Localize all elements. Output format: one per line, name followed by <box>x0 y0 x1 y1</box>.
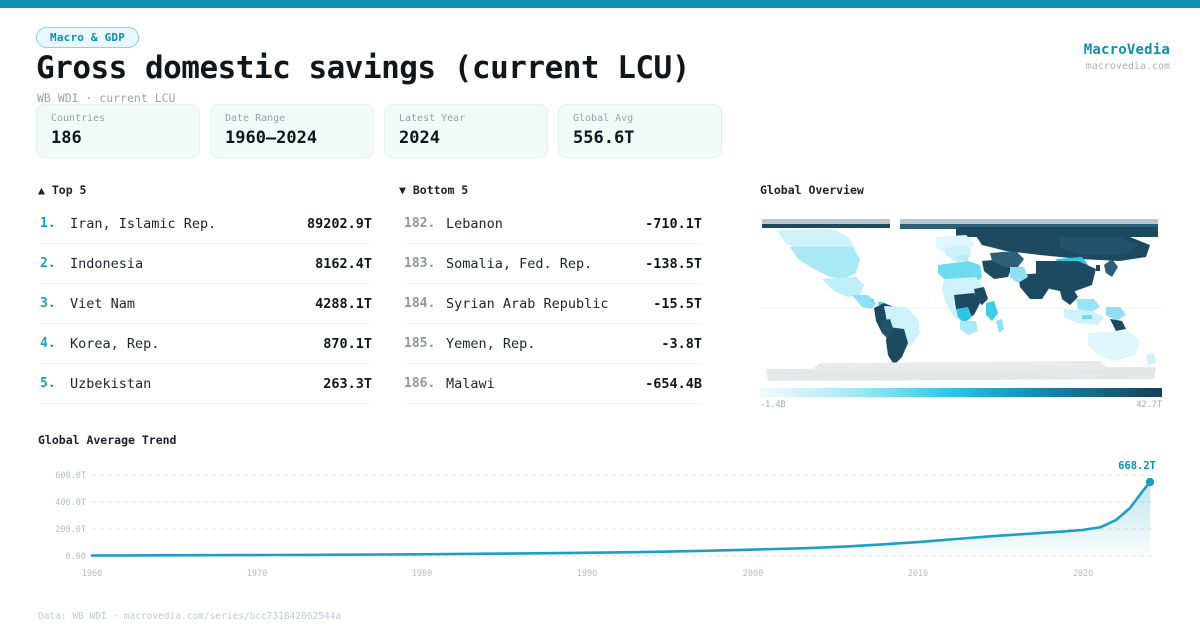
stat-label: Countries <box>51 113 185 124</box>
svg-text:1970: 1970 <box>247 569 267 579</box>
country-name: Malawi <box>446 376 645 392</box>
country-value: -15.5T <box>653 296 702 312</box>
stat-value: 556.6T <box>573 128 707 148</box>
list-item: 182. Lebanon -710.1T <box>404 204 702 244</box>
brand: MacroVedia macrovedia.com <box>1084 42 1170 72</box>
list-item: 186. Malawi -654.4B <box>404 364 702 404</box>
svg-text:0.00: 0.00 <box>66 552 86 562</box>
country-name: Korea, Rep. <box>70 336 323 352</box>
stat-label: Global Avg <box>573 113 707 124</box>
country-value: 4288.1T <box>315 296 372 312</box>
country-value: 263.3T <box>323 376 372 392</box>
country-value: -710.1T <box>645 216 702 232</box>
stat-card-date-range: Date Range 1960–2024 <box>210 104 374 158</box>
legend-gradient-bar <box>760 388 1162 397</box>
country-name: Indonesia <box>70 256 315 272</box>
bottom5-list: 182. Lebanon -710.1T 183. Somalia, Fed. … <box>404 204 702 404</box>
stat-value: 2024 <box>399 128 533 148</box>
stat-value: 186 <box>51 128 185 148</box>
svg-text:2020: 2020 <box>1073 569 1093 579</box>
section-header-top5: ▲ Top 5 <box>38 183 86 197</box>
stat-value: 1960–2024 <box>225 128 359 148</box>
svg-text:400.0T: 400.0T <box>55 498 86 508</box>
footer-source: Data: WB WDI · macrovedia.com/series/bcc… <box>38 611 341 622</box>
legend-min-label: -1.4B <box>760 400 786 410</box>
section-header-trend: Global Average Trend <box>38 433 176 447</box>
svg-text:600.0T: 600.0T <box>55 471 86 481</box>
country-value: 870.1T <box>323 336 372 352</box>
country-name: Uzbekistan <box>70 376 323 392</box>
rank-number: 1. <box>40 216 70 231</box>
rank-number: 3. <box>40 296 70 311</box>
stat-label: Latest Year <box>399 113 533 124</box>
rank-number: 184. <box>404 296 446 311</box>
country-value: -654.4B <box>645 376 702 392</box>
list-item: 5. Uzbekistan 263.3T <box>40 364 372 404</box>
svg-text:200.0T: 200.0T <box>55 525 86 535</box>
svg-text:2000: 2000 <box>743 569 763 579</box>
trend-svg: 600.0T 400.0T 200.0T 0.00 668.2T 1960 19… <box>36 452 1166 582</box>
rank-number: 183. <box>404 256 446 271</box>
list-item: 184. Syrian Arab Republic -15.5T <box>404 284 702 324</box>
list-item: 1. Iran, Islamic Rep. 89202.9T <box>40 204 372 244</box>
country-value: -3.8T <box>661 336 702 352</box>
trend-area <box>92 482 1150 556</box>
rank-number: 182. <box>404 216 446 231</box>
list-item: 3. Viet Nam 4288.1T <box>40 284 372 324</box>
rank-number: 4. <box>40 336 70 351</box>
stat-card-countries: Countries 186 <box>36 104 200 158</box>
country-name: Viet Nam <box>70 296 315 312</box>
page-subtitle: WB WDI · current LCU <box>37 91 175 105</box>
section-header-map: Global Overview <box>760 183 864 197</box>
country-name: Iran, Islamic Rep. <box>70 216 307 232</box>
y-axis-ticks: 600.0T 400.0T 200.0T 0.00 <box>55 471 86 562</box>
country-name: Yemen, Rep. <box>446 336 661 352</box>
header: Macro & GDP Gross domestic savings (curr… <box>0 8 1200 98</box>
svg-text:1960: 1960 <box>82 569 102 579</box>
map-color-legend: -1.4B 42.7T <box>760 388 1162 412</box>
country-name: Somalia, Fed. Rep. <box>446 256 645 272</box>
country-name: Lebanon <box>446 216 645 232</box>
stat-card-latest-year: Latest Year 2024 <box>384 104 548 158</box>
country-value: 89202.9T <box>307 216 372 232</box>
infographic-page: Macro & GDP Gross domestic savings (curr… <box>0 0 1200 630</box>
trend-endpoint-label: 668.2T <box>1118 460 1156 472</box>
brand-name: MacroVedia <box>1084 42 1170 58</box>
category-badge: Macro & GDP <box>36 27 139 48</box>
rank-number: 186. <box>404 376 446 391</box>
list-item: 4. Korea, Rep. 870.1T <box>40 324 372 364</box>
country-value: 8162.4T <box>315 256 372 272</box>
x-axis-ticks: 1960 1970 1980 1990 2000 2010 2020 <box>82 569 1093 579</box>
country-name: Syrian Arab Republic <box>446 296 653 312</box>
page-title: Gross domestic savings (current LCU) <box>36 50 690 86</box>
brand-url: macrovedia.com <box>1084 61 1170 72</box>
world-choropleth-map <box>760 203 1162 383</box>
section-header-bottom5: ▼ Bottom 5 <box>399 183 468 197</box>
top-accent-bar <box>0 0 1200 8</box>
list-item: 183. Somalia, Fed. Rep. -138.5T <box>404 244 702 284</box>
svg-text:1980: 1980 <box>412 569 432 579</box>
trend-endpoint-marker <box>1146 478 1154 486</box>
svg-text:2010: 2010 <box>908 569 928 579</box>
legend-max-label: 42.7T <box>1136 400 1162 410</box>
top5-list: 1. Iran, Islamic Rep. 89202.9T 2. Indone… <box>40 204 372 404</box>
rank-number: 185. <box>404 336 446 351</box>
stat-card-global-avg: Global Avg 556.6T <box>558 104 722 158</box>
global-average-trend-chart: 600.0T 400.0T 200.0T 0.00 668.2T 1960 19… <box>36 452 1166 582</box>
svg-text:1990: 1990 <box>577 569 597 579</box>
stat-label: Date Range <box>225 113 359 124</box>
stat-cards: Countries 186 Date Range 1960–2024 Lates… <box>36 104 722 158</box>
rank-number: 5. <box>40 376 70 391</box>
country-value: -138.5T <box>645 256 702 272</box>
rank-number: 2. <box>40 256 70 271</box>
map-svg <box>760 203 1162 383</box>
list-item: 2. Indonesia 8162.4T <box>40 244 372 284</box>
list-item: 185. Yemen, Rep. -3.8T <box>404 324 702 364</box>
legend-labels: -1.4B 42.7T <box>760 400 1162 412</box>
